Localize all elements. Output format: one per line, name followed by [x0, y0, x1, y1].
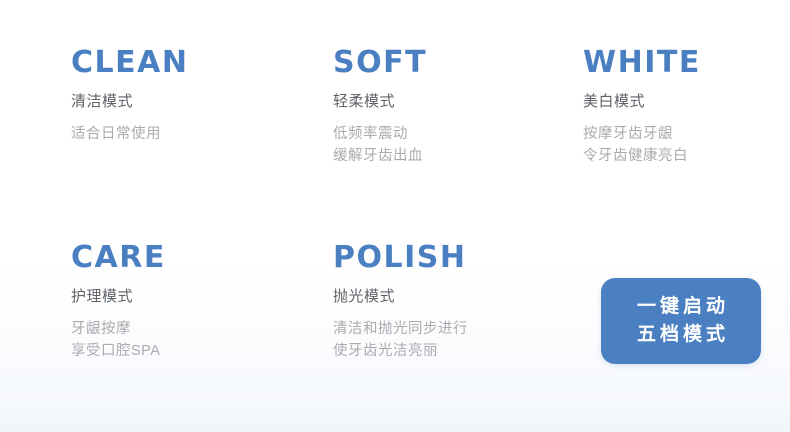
modes-grid: CLEAN 清洁模式 适合日常使用 SOFT 轻柔模式 低频率震动缓解牙齿出血 … [0, 0, 790, 432]
one-key-start-badge: 一键启动 五档模式 [601, 278, 761, 364]
mode-title-white: WHITE [583, 48, 701, 78]
mode-subtitle-soft: 轻柔模式 [333, 94, 427, 109]
mode-card-soft: SOFT 轻柔模式 低频率震动缓解牙齿出血 [333, 48, 427, 168]
mode-description-polish: 清洁和抛光同步进行使牙齿光洁亮丽 [333, 318, 468, 363]
mode-subtitle-clean: 清洁模式 [71, 94, 188, 109]
page-root: CLEAN 清洁模式 适合日常使用 SOFT 轻柔模式 低频率震动缓解牙齿出血 … [0, 0, 790, 432]
badge-line-1: 一键启动 [633, 293, 729, 322]
mode-subtitle-care: 护理模式 [71, 289, 166, 304]
mode-title-clean: CLEAN [71, 48, 188, 78]
mode-description-white: 按摩牙齿牙龈令牙齿健康亮白 [583, 123, 701, 168]
mode-card-clean: CLEAN 清洁模式 适合日常使用 [71, 48, 188, 145]
mode-title-polish: POLISH [333, 243, 468, 273]
badge-line-2: 五档模式 [633, 321, 729, 350]
mode-subtitle-polish: 抛光模式 [333, 289, 468, 304]
mode-title-care: CARE [71, 243, 166, 273]
mode-card-white: WHITE 美白模式 按摩牙齿牙龈令牙齿健康亮白 [583, 48, 701, 168]
mode-description-clean: 适合日常使用 [71, 123, 188, 145]
mode-card-polish: POLISH 抛光模式 清洁和抛光同步进行使牙齿光洁亮丽 [333, 243, 468, 363]
mode-description-soft: 低频率震动缓解牙齿出血 [333, 123, 427, 168]
mode-title-soft: SOFT [333, 48, 427, 78]
mode-subtitle-white: 美白模式 [583, 94, 701, 109]
mode-description-care: 牙龈按摩享受口腔SPA [71, 318, 166, 363]
mode-card-care: CARE 护理模式 牙龈按摩享受口腔SPA [71, 243, 166, 363]
